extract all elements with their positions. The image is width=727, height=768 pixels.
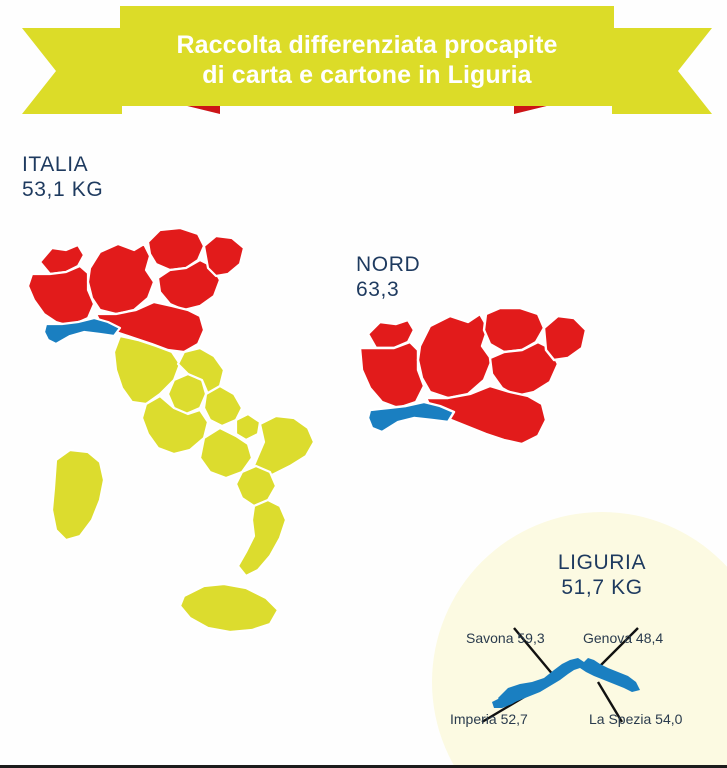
region-molise: [236, 414, 260, 440]
nord-region-friuli: [544, 316, 586, 360]
region-lombardia: [88, 244, 154, 314]
banner-center-band: [120, 6, 614, 106]
banner-tail-left: [22, 28, 122, 114]
italia-label-name: ITALIA: [22, 152, 103, 177]
nord-inset-map: [352, 308, 592, 448]
nord-region-piemonte: [360, 342, 424, 408]
italia-label-value: 53,1 KG: [22, 177, 103, 202]
region-piemonte: [28, 266, 94, 326]
region-sardegna: [52, 450, 104, 540]
italia-label-group: ITALIA 53,1 KG: [22, 152, 103, 202]
liguria-label-value: 51,7 KG: [432, 575, 727, 600]
liguria-label-group: LIGURIA 51,7 KG: [432, 550, 727, 600]
province-label-savona: Savona 59,3: [466, 630, 545, 647]
banner-tail-right: [612, 28, 712, 114]
nord-region-lombardia: [418, 314, 492, 398]
title-banner: Raccolta differenziata procapite di cart…: [22, 6, 712, 126]
province-label-la-spezia: La Spezia 54,0: [589, 711, 682, 728]
region-friuli-venezia-giulia: [204, 236, 244, 276]
liguria-label-name: LIGURIA: [432, 550, 727, 575]
province-label-genova: Genova 48,4: [583, 630, 663, 647]
province-label-imperia: Imperia 52,7: [450, 711, 528, 728]
italy-map: [8, 218, 368, 658]
infographic-canvas: Raccolta differenziata procapite di cart…: [0, 0, 727, 768]
region-calabria: [238, 500, 286, 576]
region-sicilia: [180, 584, 278, 632]
nord-region-liguria-highlight: [368, 402, 454, 432]
